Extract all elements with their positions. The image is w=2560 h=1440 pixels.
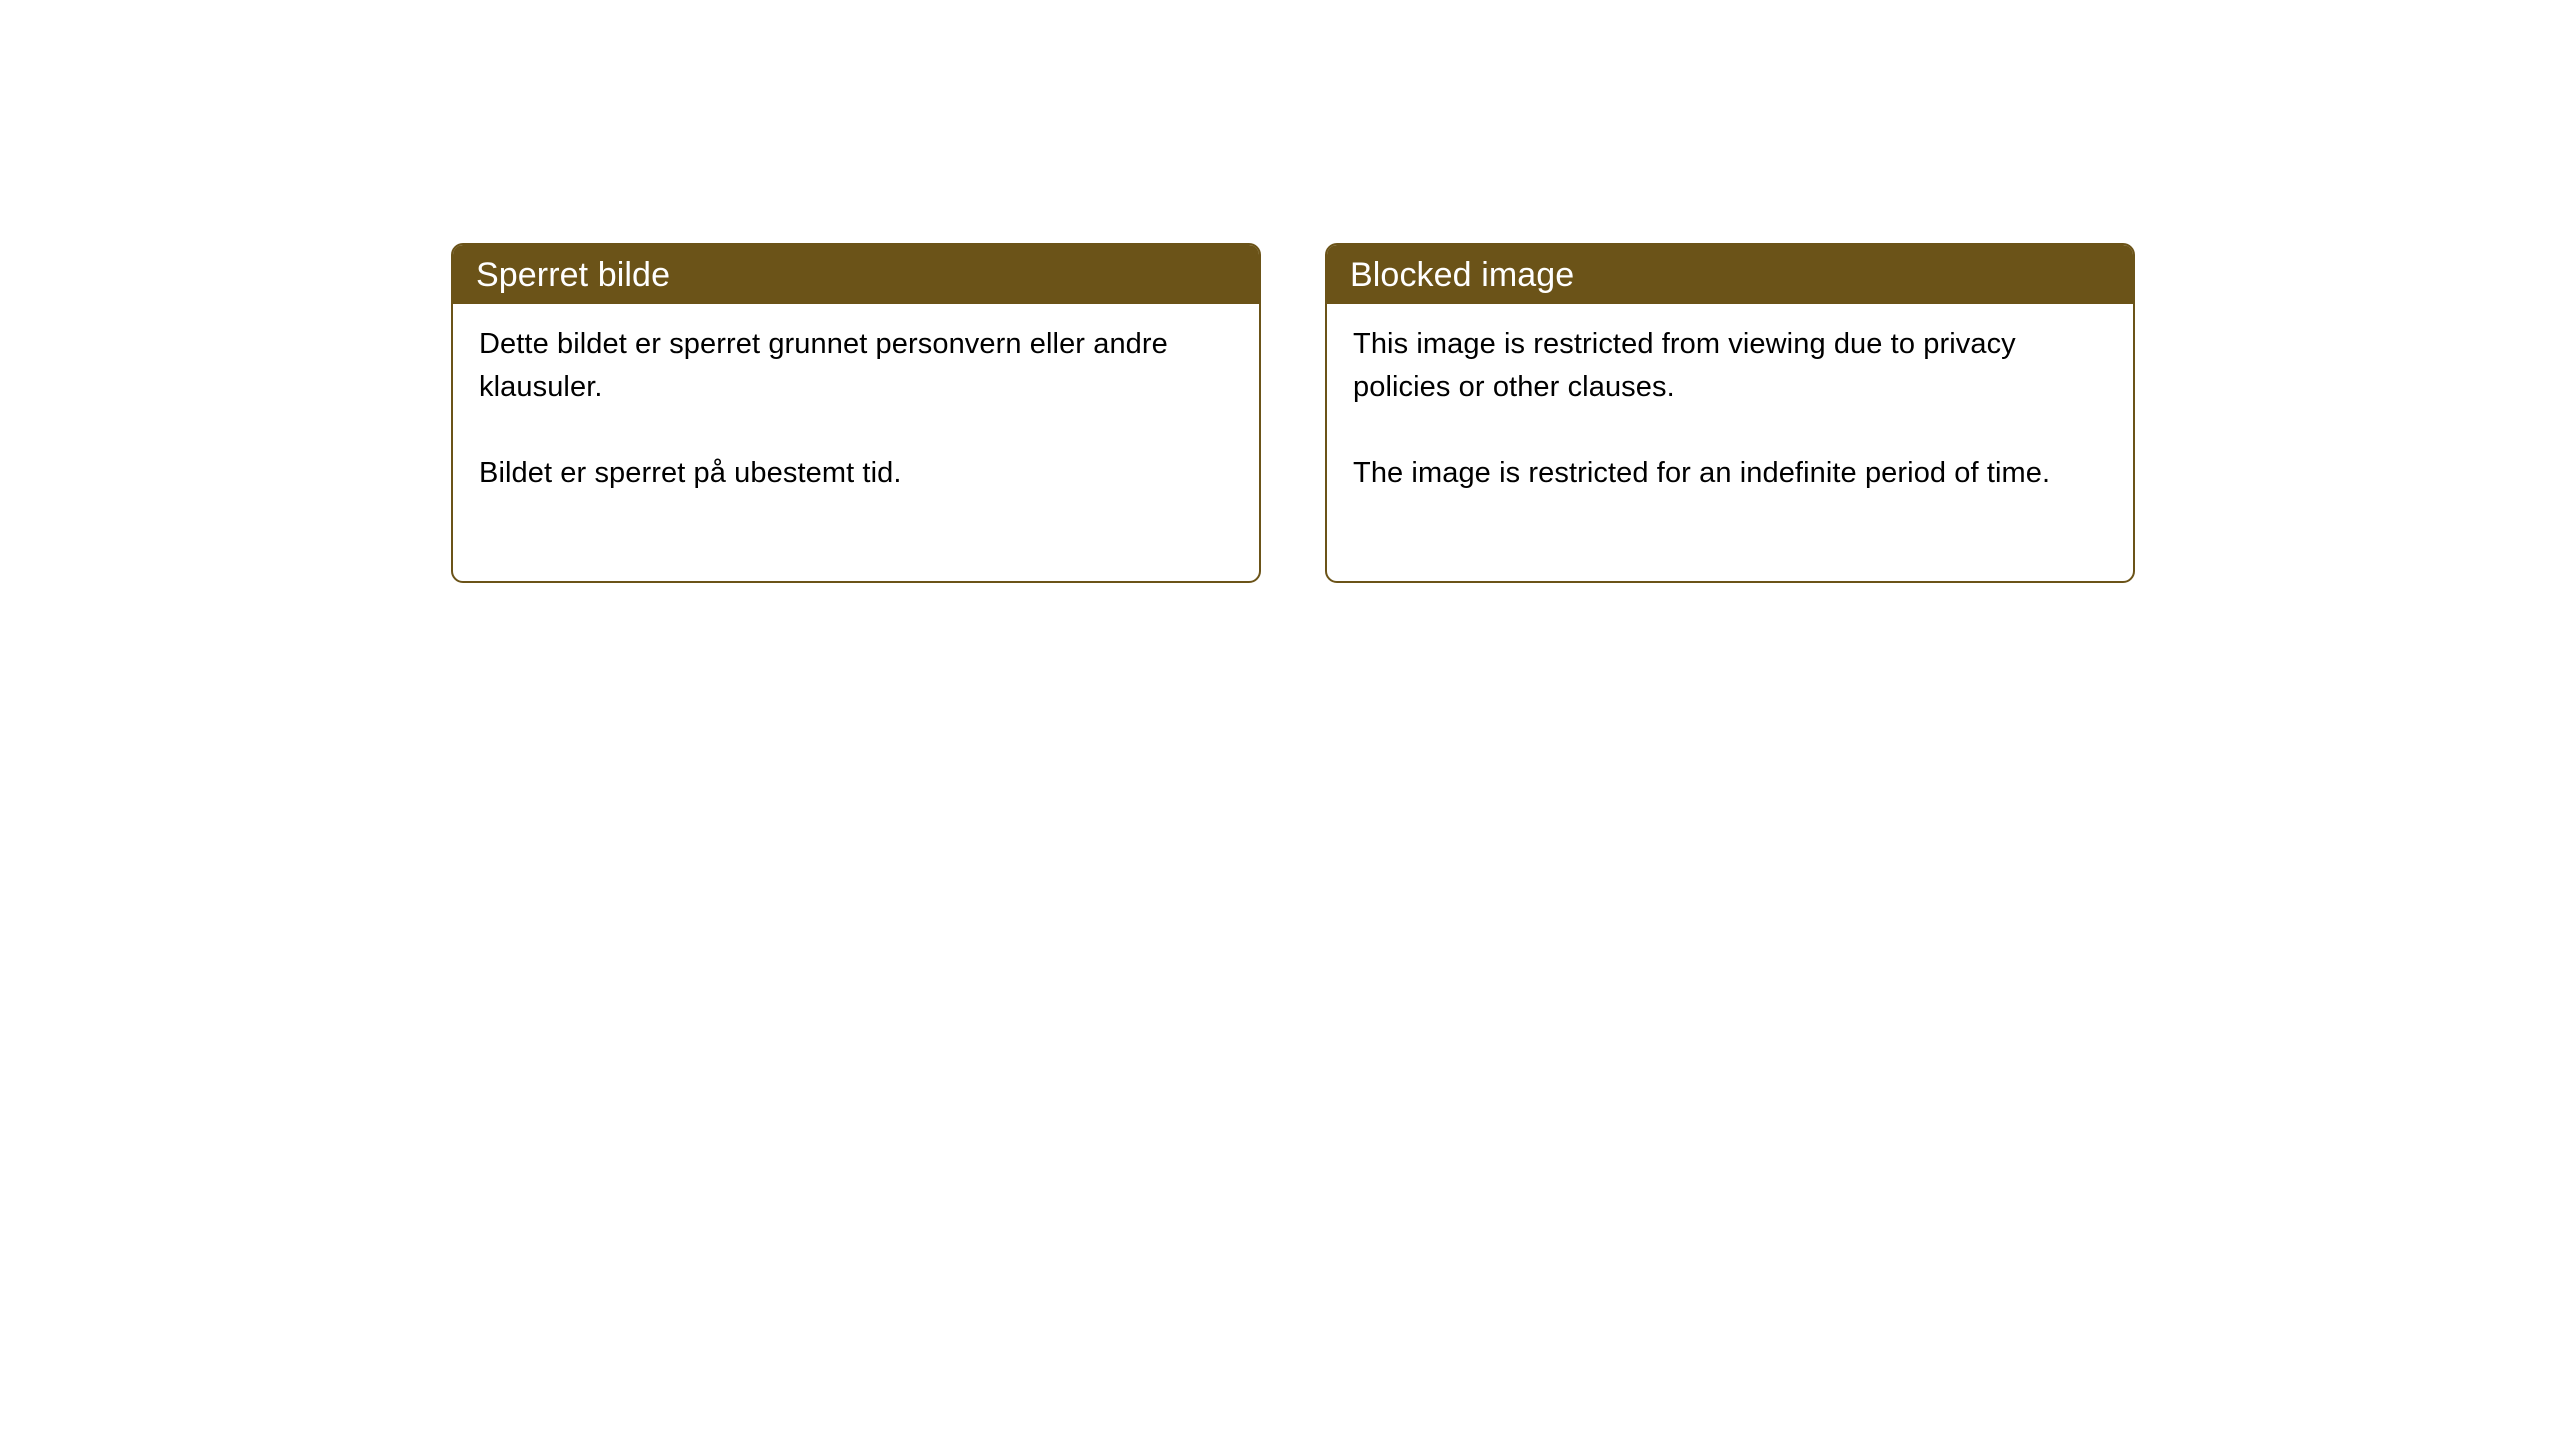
panel-body-norwegian: Dette bildet er sperret grunnet personve…	[453, 304, 1259, 495]
page-canvas: Sperret bilde Dette bildet er sperret gr…	[0, 0, 2560, 1440]
blocked-image-notice-norwegian: Sperret bilde Dette bildet er sperret gr…	[451, 243, 1261, 583]
blocked-image-notice-english: Blocked image This image is restricted f…	[1325, 243, 2135, 583]
panel-paragraph-duration-norwegian: Bildet er sperret på ubestemt tid.	[479, 452, 1235, 495]
panel-header-norwegian: Sperret bilde	[453, 245, 1259, 304]
panel-paragraph-reason-norwegian: Dette bildet er sperret grunnet personve…	[479, 323, 1235, 409]
panel-paragraph-duration-english: The image is restricted for an indefinit…	[1353, 452, 2109, 495]
panel-paragraph-reason-english: This image is restricted from viewing du…	[1353, 323, 2109, 409]
panel-header-english: Blocked image	[1327, 245, 2133, 304]
panel-body-english: This image is restricted from viewing du…	[1327, 304, 2133, 495]
panel-title-english: Blocked image	[1350, 255, 1574, 295]
panel-title-norwegian: Sperret bilde	[476, 255, 670, 295]
